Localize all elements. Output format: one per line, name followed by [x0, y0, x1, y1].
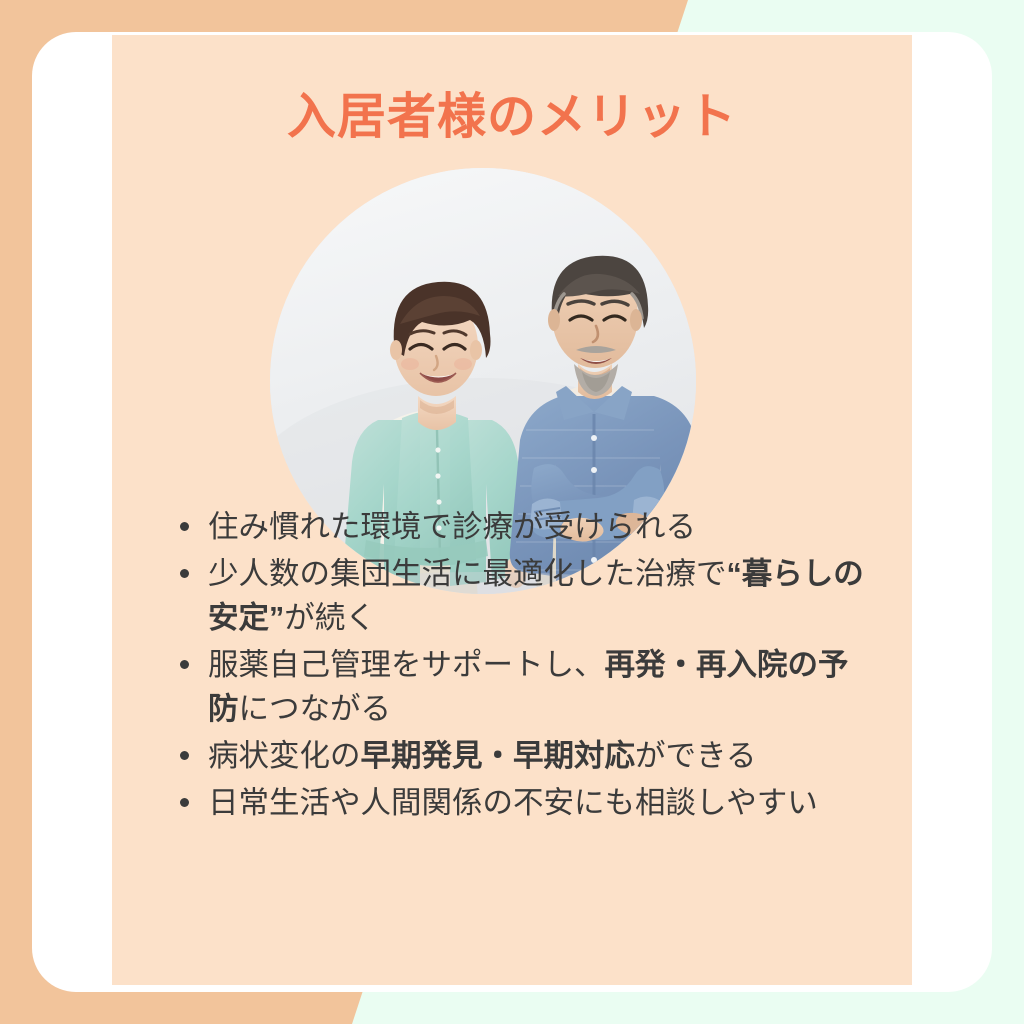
list-item: 日常生活や人間関係の不安にも相談しやすい — [164, 781, 876, 825]
benefit-text-4: 病状変化の早期発見・早期対応ができる — [208, 734, 876, 778]
benefit-plain: につながる — [239, 692, 392, 726]
list-item: 少人数の集団生活に最適化した治療で“暮らしの安定”が続く — [164, 552, 876, 640]
benefit-text-1: 住み慣れた環境で診療が受けられる — [208, 505, 876, 549]
benefit-plain: 病状変化の — [208, 739, 361, 773]
benefit-plain: 少人数の集団生活に最適化した治療で — [208, 557, 727, 591]
benefit-text-5: 日常生活や人間関係の不安にも相談しやすい — [208, 781, 876, 825]
page-title: 入居者様のメリット — [112, 91, 912, 145]
content-panel: 入居者様のメリット — [112, 35, 912, 985]
list-item: 服薬自己管理をサポートし、再発・再入院の予防につながる — [164, 643, 876, 731]
list-item: 病状変化の早期発見・早期対応ができる — [164, 734, 876, 778]
bullet-dot — [180, 522, 189, 531]
benefit-text-2: 少人数の集団生活に最適化した治療で“暮らしの安定”が続く — [208, 552, 876, 640]
benefit-plain: 服薬自己管理をサポートし、 — [208, 648, 605, 682]
benefit-plain: 日常生活や人間関係の不安にも相談しやすい — [208, 786, 818, 820]
bullet-dot — [180, 660, 189, 669]
benefits-list: 住み慣れた環境で診療が受けられる 少人数の集団生活に最適化した治療で“暮らしの安… — [164, 505, 876, 828]
benefit-plain: 住み慣れた環境で診療が受けられる — [208, 510, 696, 544]
benefit-plain: ができる — [635, 739, 756, 773]
slide-canvas: 入居者様のメリット — [0, 0, 1024, 1024]
bullet-dot — [180, 569, 189, 578]
bullet-dot — [180, 798, 189, 807]
benefit-plain: が続く — [284, 601, 376, 635]
list-item: 住み慣れた環境で診療が受けられる — [164, 505, 876, 549]
benefit-emphasis: 早期発見・早期対応 — [361, 739, 636, 773]
bullet-dot — [180, 751, 189, 760]
benefit-text-3: 服薬自己管理をサポートし、再発・再入院の予防につながる — [208, 643, 876, 731]
